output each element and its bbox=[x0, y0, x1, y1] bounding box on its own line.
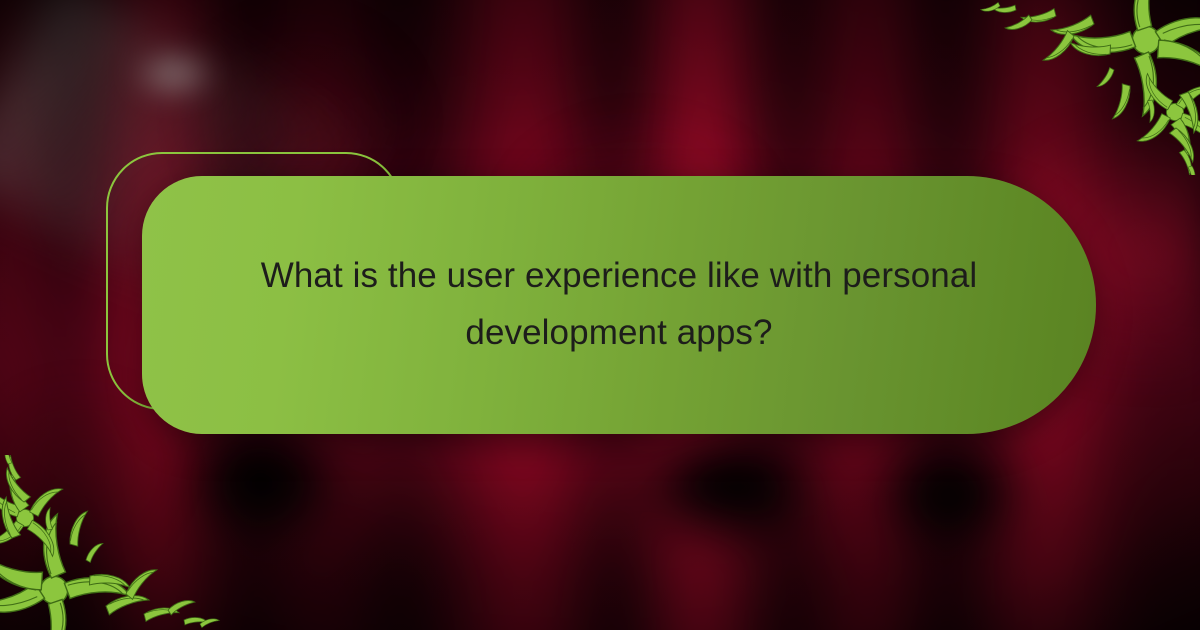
question-text: What is the user experience like with pe… bbox=[219, 248, 1019, 361]
question-card: What is the user experience like with pe… bbox=[142, 176, 1096, 434]
stage-canvas: What is the user experience like with pe… bbox=[0, 0, 1200, 630]
question-card-stack: What is the user experience like with pe… bbox=[106, 152, 1096, 434]
